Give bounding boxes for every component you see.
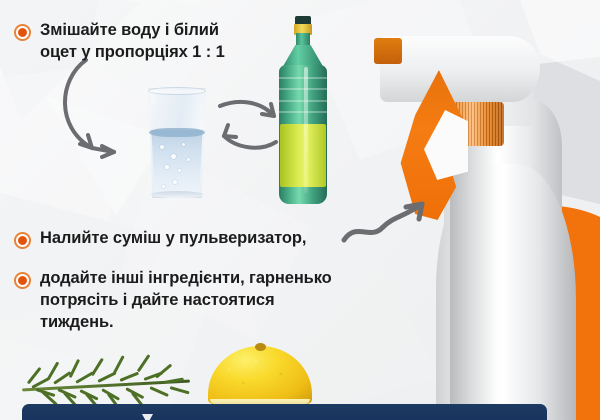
bottle-ridge (279, 88, 327, 90)
lemon-stem-nub (255, 343, 266, 351)
rosemary-needle (53, 371, 71, 385)
spray-bottle-head (380, 36, 540, 102)
list-item[interactable]: Змішайте воду і білий оцет у пропорціях … (14, 20, 304, 64)
spray-bottle-shading (450, 134, 496, 420)
spray-nozzle (374, 38, 402, 64)
bubble (162, 185, 165, 188)
rosemary-needle (149, 386, 168, 397)
arrow-glass-bottle-pair-icon (218, 96, 298, 160)
arrow-to-glass-icon (52, 56, 182, 166)
rosemary-needle (47, 361, 60, 380)
list-item[interactable]: Налийте суміш у пульверизатор, (14, 228, 354, 250)
step-text: Налийте суміш у пульверизатор, (40, 228, 306, 250)
bottle-highlight (304, 67, 308, 192)
rosemary-sprig (14, 348, 204, 410)
step-text: додайте інші інгредієнти, гарненько потр… (40, 268, 332, 334)
footer-marker-icon (142, 414, 153, 420)
rosemary-needle (170, 386, 190, 394)
rosemary-needle (91, 358, 104, 377)
rosemary-needle (69, 359, 80, 378)
rosemary-needle (119, 372, 139, 382)
bottle-ridge (279, 77, 327, 79)
footer-bar[interactable] (22, 404, 547, 420)
filled-circle-bullet-icon (14, 272, 31, 289)
rosemary-needle (137, 354, 151, 372)
rosemary-needle (113, 355, 125, 374)
bubble (182, 143, 185, 146)
infographic-canvas: Змішайте воду і білий оцет у пропорціях … (0, 0, 600, 420)
step-text: Змішайте воду і білий оцет у пропорціях … (40, 20, 225, 64)
rosemary-needle (155, 363, 172, 378)
filled-circle-bullet-icon (14, 24, 31, 41)
glass-base (151, 191, 203, 198)
arrow-to-spray-bottle-icon (340, 196, 440, 252)
filled-circle-bullet-icon (14, 232, 31, 249)
list-item[interactable]: додайте інші інгредієнти, гарненько потр… (14, 268, 374, 334)
